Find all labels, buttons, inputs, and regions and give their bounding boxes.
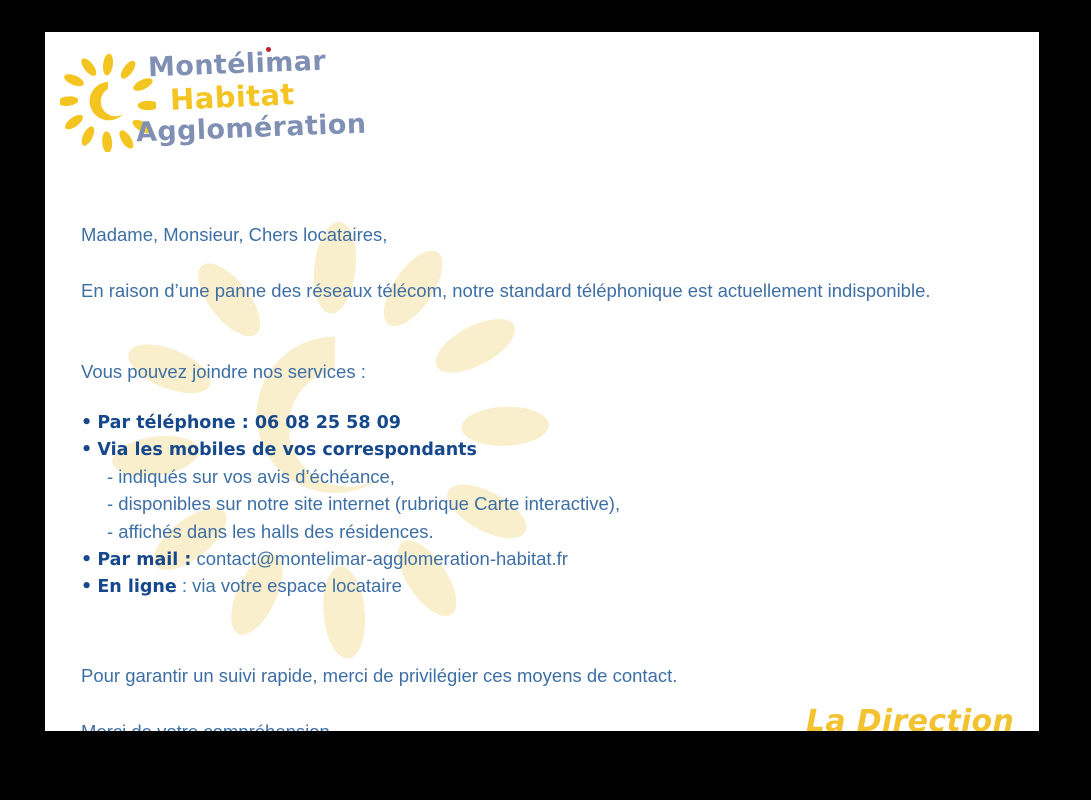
- contact-label-online: En ligne: [97, 577, 176, 597]
- contact-list: • Par téléphone : 06 08 25 58 09 • Via l…: [81, 409, 781, 600]
- letter-paragraph: En raison d’une panne des réseaux téléco…: [81, 278, 1013, 305]
- bullet-icon: •: [81, 413, 92, 433]
- list-item: • Par mail : contact@montelimar-agglomer…: [81, 546, 781, 573]
- brand-line-montelimar: Montélimar: [147, 46, 326, 84]
- closing-line-2: Merci de votre compréhension.: [81, 719, 335, 731]
- services-intro: Vous pouvez joindre nos services :: [81, 359, 366, 386]
- list-item: • Via les mobiles de vos correspondants: [81, 436, 781, 463]
- contact-value-online: : via votre espace locataire: [177, 575, 402, 596]
- brand-logo: Montélimar Habitat Agglomération: [60, 44, 360, 156]
- list-item: • Par téléphone : 06 08 25 58 09: [81, 409, 781, 436]
- signature: La Direction: [806, 700, 1014, 731]
- bullet-icon: •: [81, 440, 92, 460]
- bullet-icon: •: [81, 577, 92, 597]
- list-item-sub: - indiqués sur vos avis d’échéance,: [81, 463, 781, 491]
- list-item-sub: - disponibles sur notre site internet (r…: [81, 490, 781, 518]
- list-item: • En ligne : via votre espace locataire: [81, 573, 781, 600]
- notice-page: Montélimar Habitat Agglomération Madame,…: [0, 0, 1091, 800]
- brand-wordmark: Montélimar Habitat Agglomération: [136, 44, 366, 156]
- contact-value-mail: contact@montelimar-agglomeration-habitat…: [191, 548, 568, 569]
- brand-line-habitat: Habitat: [169, 77, 295, 117]
- list-item-sub: - affichés dans les halls des résidences…: [81, 518, 781, 546]
- contact-label-phone: Par téléphone : 06 08 25 58 09: [97, 413, 401, 433]
- contact-label-mail: Par mail :: [97, 550, 191, 570]
- contact-label-mobiles: Via les mobiles de vos correspondants: [97, 440, 477, 460]
- closing-line-1: Pour garantir un suivi rapide, merci de …: [81, 663, 677, 690]
- brand-accent-dot-icon: [266, 47, 271, 52]
- notice-card: Montélimar Habitat Agglomération Madame,…: [45, 32, 1039, 731]
- letter-greeting: Madame, Monsieur, Chers locataires,: [81, 222, 387, 249]
- bullet-icon: •: [81, 550, 92, 570]
